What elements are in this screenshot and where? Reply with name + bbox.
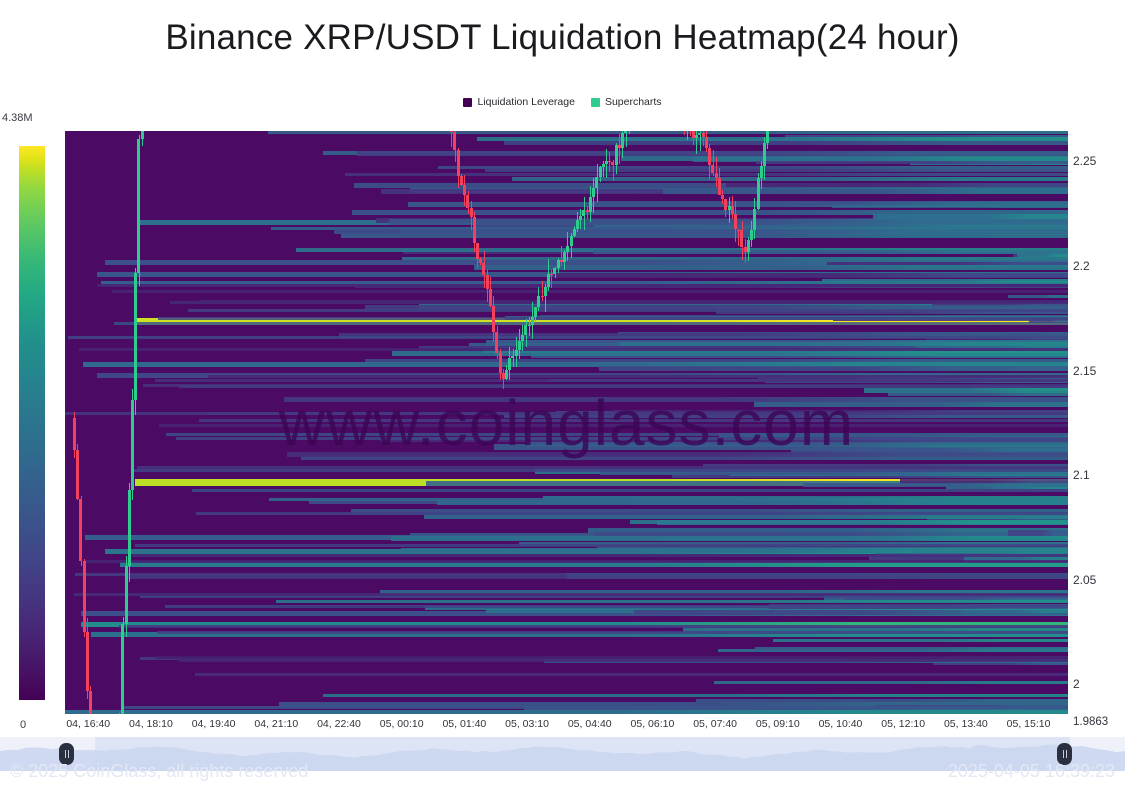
- liquidation-band: [663, 189, 1068, 194]
- candle-body: [573, 229, 576, 236]
- candle-body: [602, 164, 605, 167]
- price-tick-label: 2.2: [1073, 259, 1090, 273]
- liquidation-band: [593, 250, 1068, 254]
- liquidation-band: [97, 284, 1068, 287]
- candle-body: [508, 358, 511, 370]
- liquidation-band: [773, 639, 1068, 642]
- candle-wick: [542, 281, 543, 302]
- liquidation-band: [156, 656, 1068, 659]
- timestamp-text: 2025-04-05 16:39:23: [948, 761, 1115, 782]
- candle-body: [566, 246, 569, 252]
- liquidation-band: [402, 257, 1068, 260]
- candle-wick: [513, 349, 514, 367]
- candle-body: [515, 350, 518, 357]
- candle-body: [518, 341, 521, 350]
- liquidation-band: [199, 419, 1068, 422]
- candle-body: [125, 566, 128, 624]
- chart-legend: Liquidation Leverage Supercharts: [0, 96, 1125, 108]
- price-tick-label: 2.15: [1073, 364, 1096, 378]
- candle-wick: [609, 152, 610, 172]
- candle-body: [495, 332, 498, 353]
- candle-body: [466, 195, 469, 208]
- time-tick-label: 04, 18:10: [129, 718, 173, 730]
- candle-body: [486, 275, 489, 288]
- liquidation-band: [345, 173, 1068, 176]
- candle-body: [570, 236, 573, 246]
- candle-body: [131, 400, 134, 490]
- candle-body: [718, 178, 721, 195]
- time-tick-label: 04, 19:40: [192, 718, 236, 730]
- liquidation-band: [620, 342, 1068, 346]
- liquidation-band: [195, 673, 1068, 676]
- liquidation-band: [621, 156, 1068, 161]
- liquidation-band: [166, 433, 1068, 436]
- liquidation-band: [726, 183, 1068, 187]
- candle-body: [757, 178, 760, 209]
- liquidation-band: [123, 706, 1068, 709]
- liquidation-band: [477, 137, 1068, 141]
- liquidation-band: [165, 605, 1068, 608]
- candle-body: [711, 165, 714, 173]
- candle-body: [595, 177, 598, 188]
- candle-body: [589, 197, 592, 212]
- candle-body: [524, 325, 527, 336]
- liquidation-band: [192, 489, 1068, 492]
- liquidation-band: [158, 317, 1068, 320]
- legend-label: Supercharts: [605, 96, 662, 108]
- candle-body: [453, 132, 456, 150]
- time-tick-label: 05, 09:10: [756, 718, 800, 730]
- candle-body: [547, 274, 550, 287]
- candle-body: [482, 263, 485, 276]
- candle-body: [731, 206, 734, 215]
- candle-body: [747, 240, 750, 251]
- candle-body: [457, 150, 460, 176]
- candle-wick: [690, 131, 691, 136]
- liquidation-band: [199, 300, 1068, 303]
- liquidation-band: [112, 290, 1068, 293]
- liquidation-band: [159, 424, 1068, 427]
- candle-body: [592, 188, 595, 197]
- time-tick-label: 05, 12:10: [881, 718, 925, 730]
- candle-body: [599, 167, 602, 176]
- colorbar: 4.38M 0: [16, 131, 50, 715]
- candle-body: [128, 490, 131, 566]
- liquidation-band: [155, 379, 1068, 382]
- time-tick-label: 05, 07:40: [693, 718, 737, 730]
- liquidation-band: [133, 469, 1068, 472]
- candle-body: [734, 214, 737, 229]
- candle-wick: [119, 713, 120, 714]
- candle-body: [83, 561, 86, 632]
- candle-body: [528, 325, 531, 327]
- time-tick-label: 05, 04:40: [568, 718, 612, 730]
- liquidation-band: [114, 322, 1068, 325]
- candle-wick: [626, 131, 627, 147]
- candle-body: [121, 624, 124, 714]
- liquidation-band: [658, 536, 1068, 541]
- candle-body: [473, 217, 476, 243]
- candle-body: [766, 131, 769, 143]
- candle-body: [89, 691, 92, 714]
- candle-body: [553, 268, 556, 274]
- liquidation-band: [119, 625, 1068, 628]
- liquidation-band: [803, 483, 1068, 487]
- legend-label: Liquidation Leverage: [477, 96, 575, 108]
- candle-body: [563, 252, 566, 262]
- liquidation-band: [323, 694, 1068, 697]
- liquidation-band: [157, 631, 1068, 634]
- time-tick-label: 04, 21:10: [254, 718, 298, 730]
- candle-body: [511, 356, 514, 358]
- candle-wick: [451, 131, 452, 147]
- candle-body: [79, 499, 82, 561]
- liquidation-band: [594, 201, 1068, 205]
- copyright-text: © 2025 CoinGlass, all rights reserved: [10, 761, 308, 782]
- liquidation-band: [68, 336, 1068, 339]
- candle-body: [463, 185, 466, 195]
- page-title: Binance XRP/USDT Liquidation Heatmap(24 …: [0, 18, 1125, 58]
- liquidation-band: [1008, 295, 1068, 298]
- candle-wick: [738, 229, 739, 246]
- liquidation-band: [696, 699, 1068, 702]
- time-tick-label: 04, 16:40: [66, 718, 110, 730]
- candle-wick: [684, 131, 685, 135]
- time-tick-label: 05, 06:10: [631, 718, 675, 730]
- candle-body: [499, 353, 502, 373]
- candle-wick: [561, 246, 562, 266]
- liquidation-band: [401, 548, 1068, 553]
- candle-body: [753, 209, 756, 230]
- time-tick-label: 05, 01:40: [442, 718, 486, 730]
- time-tick-label: 05, 15:10: [1007, 718, 1051, 730]
- colorbar-gradient: [19, 146, 45, 700]
- legend-item-liquidation-leverage[interactable]: Liquidation Leverage: [463, 96, 575, 108]
- liquidation-band: [933, 662, 1068, 665]
- candle-body: [76, 450, 79, 499]
- liquidation-band: [599, 366, 1068, 371]
- candle-body: [476, 243, 479, 259]
- liquidation-band: [864, 388, 1068, 393]
- liquidation-band: [132, 554, 1068, 557]
- candle-body: [460, 176, 463, 185]
- time-tick-label: 05, 13:40: [944, 718, 988, 730]
- candle-body: [705, 137, 708, 147]
- liquidation-band: [79, 348, 1068, 351]
- liquidation-band: [179, 385, 1068, 388]
- legend-item-supercharts[interactable]: Supercharts: [591, 96, 662, 108]
- liquidation-band: [188, 309, 1068, 312]
- liquidation-band: [125, 576, 1068, 579]
- liquidation-band: [334, 229, 1068, 234]
- liquidation-band: [553, 273, 1068, 278]
- liquidation-band: [268, 131, 1068, 134]
- candle-body: [141, 131, 144, 139]
- candle-wick: [629, 131, 630, 134]
- candle-body: [576, 220, 579, 228]
- candle-body: [470, 208, 473, 217]
- liquidation-band: [474, 265, 1068, 270]
- liquidation-band: [755, 647, 1068, 651]
- time-tick-label: 05, 10:40: [819, 718, 863, 730]
- candle-body: [579, 216, 582, 221]
- price-axis: 2.252.22.152.12.0521.9863: [1073, 131, 1125, 731]
- time-tick-label: 04, 22:40: [317, 718, 361, 730]
- liquidation-band: [365, 359, 1068, 362]
- liquidation-band: [65, 412, 1068, 415]
- price-tick-label: 2.1: [1073, 468, 1090, 482]
- liquidation-band: [714, 681, 1068, 684]
- candle-body: [615, 145, 618, 165]
- candle-body: [534, 307, 537, 316]
- heatmap-plot-area[interactable]: www.coinglass.com: [65, 131, 1068, 714]
- candle-body: [740, 230, 743, 247]
- candle-wick: [687, 131, 688, 140]
- liquidation-band: [962, 610, 1068, 613]
- candle-body: [531, 317, 534, 325]
- liquidation-band: [85, 560, 1068, 563]
- legend-swatch-icon: [463, 98, 472, 107]
- liquidation-band: [287, 452, 1068, 457]
- candle-body: [621, 133, 624, 148]
- candle-wick: [619, 134, 620, 164]
- candle-body: [505, 370, 508, 379]
- candle-body: [521, 335, 524, 340]
- candle-body: [544, 287, 547, 297]
- time-axis: 04, 16:4004, 18:1004, 19:4004, 21:1004, …: [0, 718, 1125, 736]
- price-tick-label: 2.25: [1073, 154, 1096, 168]
- candle-body: [708, 148, 711, 165]
- liquidation-band: [485, 169, 1068, 172]
- candle-body: [624, 131, 627, 133]
- candle-body: [695, 135, 698, 138]
- liquidation-band: [208, 375, 1068, 378]
- candle-body: [134, 273, 137, 399]
- liquidation-band: [74, 593, 1068, 596]
- price-tick-label: 2.05: [1073, 573, 1096, 587]
- liquidation-band: [754, 402, 1068, 407]
- candle-body: [137, 139, 140, 274]
- legend-swatch-icon: [591, 98, 600, 107]
- liquidation-band: [888, 393, 1068, 396]
- time-tick-label: 05, 00:10: [380, 718, 424, 730]
- candle-body: [73, 418, 76, 451]
- liquidation-band: [437, 501, 1068, 505]
- candle-body: [763, 143, 766, 166]
- candle-body: [537, 296, 540, 308]
- candle-body: [489, 289, 492, 306]
- time-tick-label: 05, 03:10: [505, 718, 549, 730]
- liquidation-band: [179, 659, 1068, 662]
- candle-body: [492, 306, 495, 332]
- colorbar-max-label: 4.38M: [2, 112, 33, 124]
- liquidation-band: [630, 520, 1068, 524]
- liquidation-band: [135, 544, 1068, 547]
- candle-body: [760, 166, 763, 178]
- liquidation-band: [822, 279, 1068, 283]
- liquidation-band: [176, 437, 1068, 440]
- liquidation-band: [1008, 530, 1068, 536]
- candle-body: [750, 230, 753, 241]
- price-tick-label: 2: [1073, 677, 1080, 691]
- candle-body: [86, 632, 89, 691]
- liquidation-band: [196, 512, 1068, 515]
